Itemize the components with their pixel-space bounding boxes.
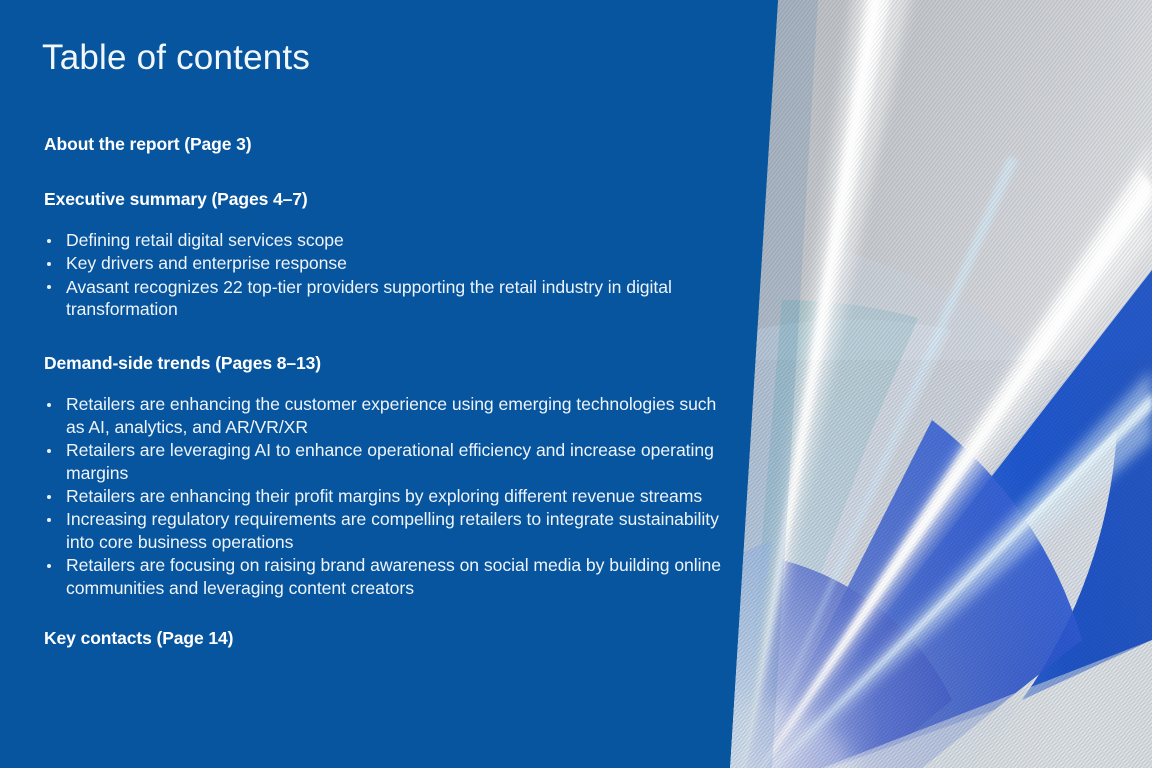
table-of-contents-list: About the report (Page 3) Executive summ… (44, 133, 722, 650)
toc-bullet-list: Defining retail digital services scope K… (44, 229, 722, 321)
slide-root: Table of contents About the report (Page… (0, 0, 1152, 768)
list-item-text: Avasant recognizes 22 top-tier providers… (66, 277, 672, 320)
bullet-dot-icon (47, 449, 51, 453)
list-item: Retailers are focusing on raising brand … (44, 554, 722, 599)
spacer (44, 157, 722, 188)
toc-section-demand-side-trends: Demand-side trends (Pages 8–13) Retailer… (44, 352, 722, 600)
toc-bullet-list: Retailers are enhancing the customer exp… (44, 393, 722, 599)
list-item-text: Retailers are enhancing the customer exp… (66, 394, 716, 437)
list-item-text: Retailers are enhancing their profit mar… (66, 486, 702, 506)
toc-section-about-the-report: About the report (Page 3) (44, 133, 722, 157)
toc-section-key-contacts: Key contacts (Page 14) (44, 627, 722, 651)
radial-fan-svg (722, 0, 1152, 768)
spacer (44, 600, 722, 627)
bullet-dot-icon (47, 262, 51, 266)
spacer (44, 322, 722, 352)
radial-fan-graphic (722, 0, 1152, 768)
toc-section-executive-summary: Executive summary (Pages 4–7) Defining r… (44, 188, 722, 321)
list-item-text: Retailers are leveraging AI to enhance o… (66, 440, 714, 483)
toc-section-heading[interactable]: Executive summary (Pages 4–7) (44, 188, 722, 212)
list-item: Avasant recognizes 22 top-tier providers… (44, 276, 722, 321)
list-item-text: Increasing regulatory requirements are c… (66, 509, 719, 552)
list-item: Retailers are leveraging AI to enhance o… (44, 439, 722, 484)
bullet-dot-icon (47, 564, 51, 568)
list-item: Key drivers and enterprise response (44, 252, 722, 275)
bullet-dot-icon (47, 239, 51, 243)
bullet-dot-icon (47, 518, 51, 522)
bullet-dot-icon (47, 285, 51, 289)
list-item-text: Retailers are focusing on raising brand … (66, 555, 721, 598)
bullet-dot-icon (47, 403, 51, 407)
list-item: Retailers are enhancing the customer exp… (44, 393, 722, 438)
list-item-text: Key drivers and enterprise response (66, 253, 347, 273)
list-item: Retailers are enhancing their profit mar… (44, 485, 722, 508)
toc-section-heading[interactable]: About the report (Page 3) (44, 133, 722, 157)
bullet-dot-icon (47, 495, 51, 499)
toc-section-heading[interactable]: Demand-side trends (Pages 8–13) (44, 352, 722, 376)
list-item: Defining retail digital services scope (44, 229, 722, 252)
toc-section-heading[interactable]: Key contacts (Page 14) (44, 627, 722, 651)
list-item: Increasing regulatory requirements are c… (44, 508, 722, 553)
content-column: Table of contents About the report (Page… (42, 0, 722, 768)
list-item-text: Defining retail digital services scope (66, 230, 344, 250)
page-title: Table of contents (42, 38, 310, 78)
